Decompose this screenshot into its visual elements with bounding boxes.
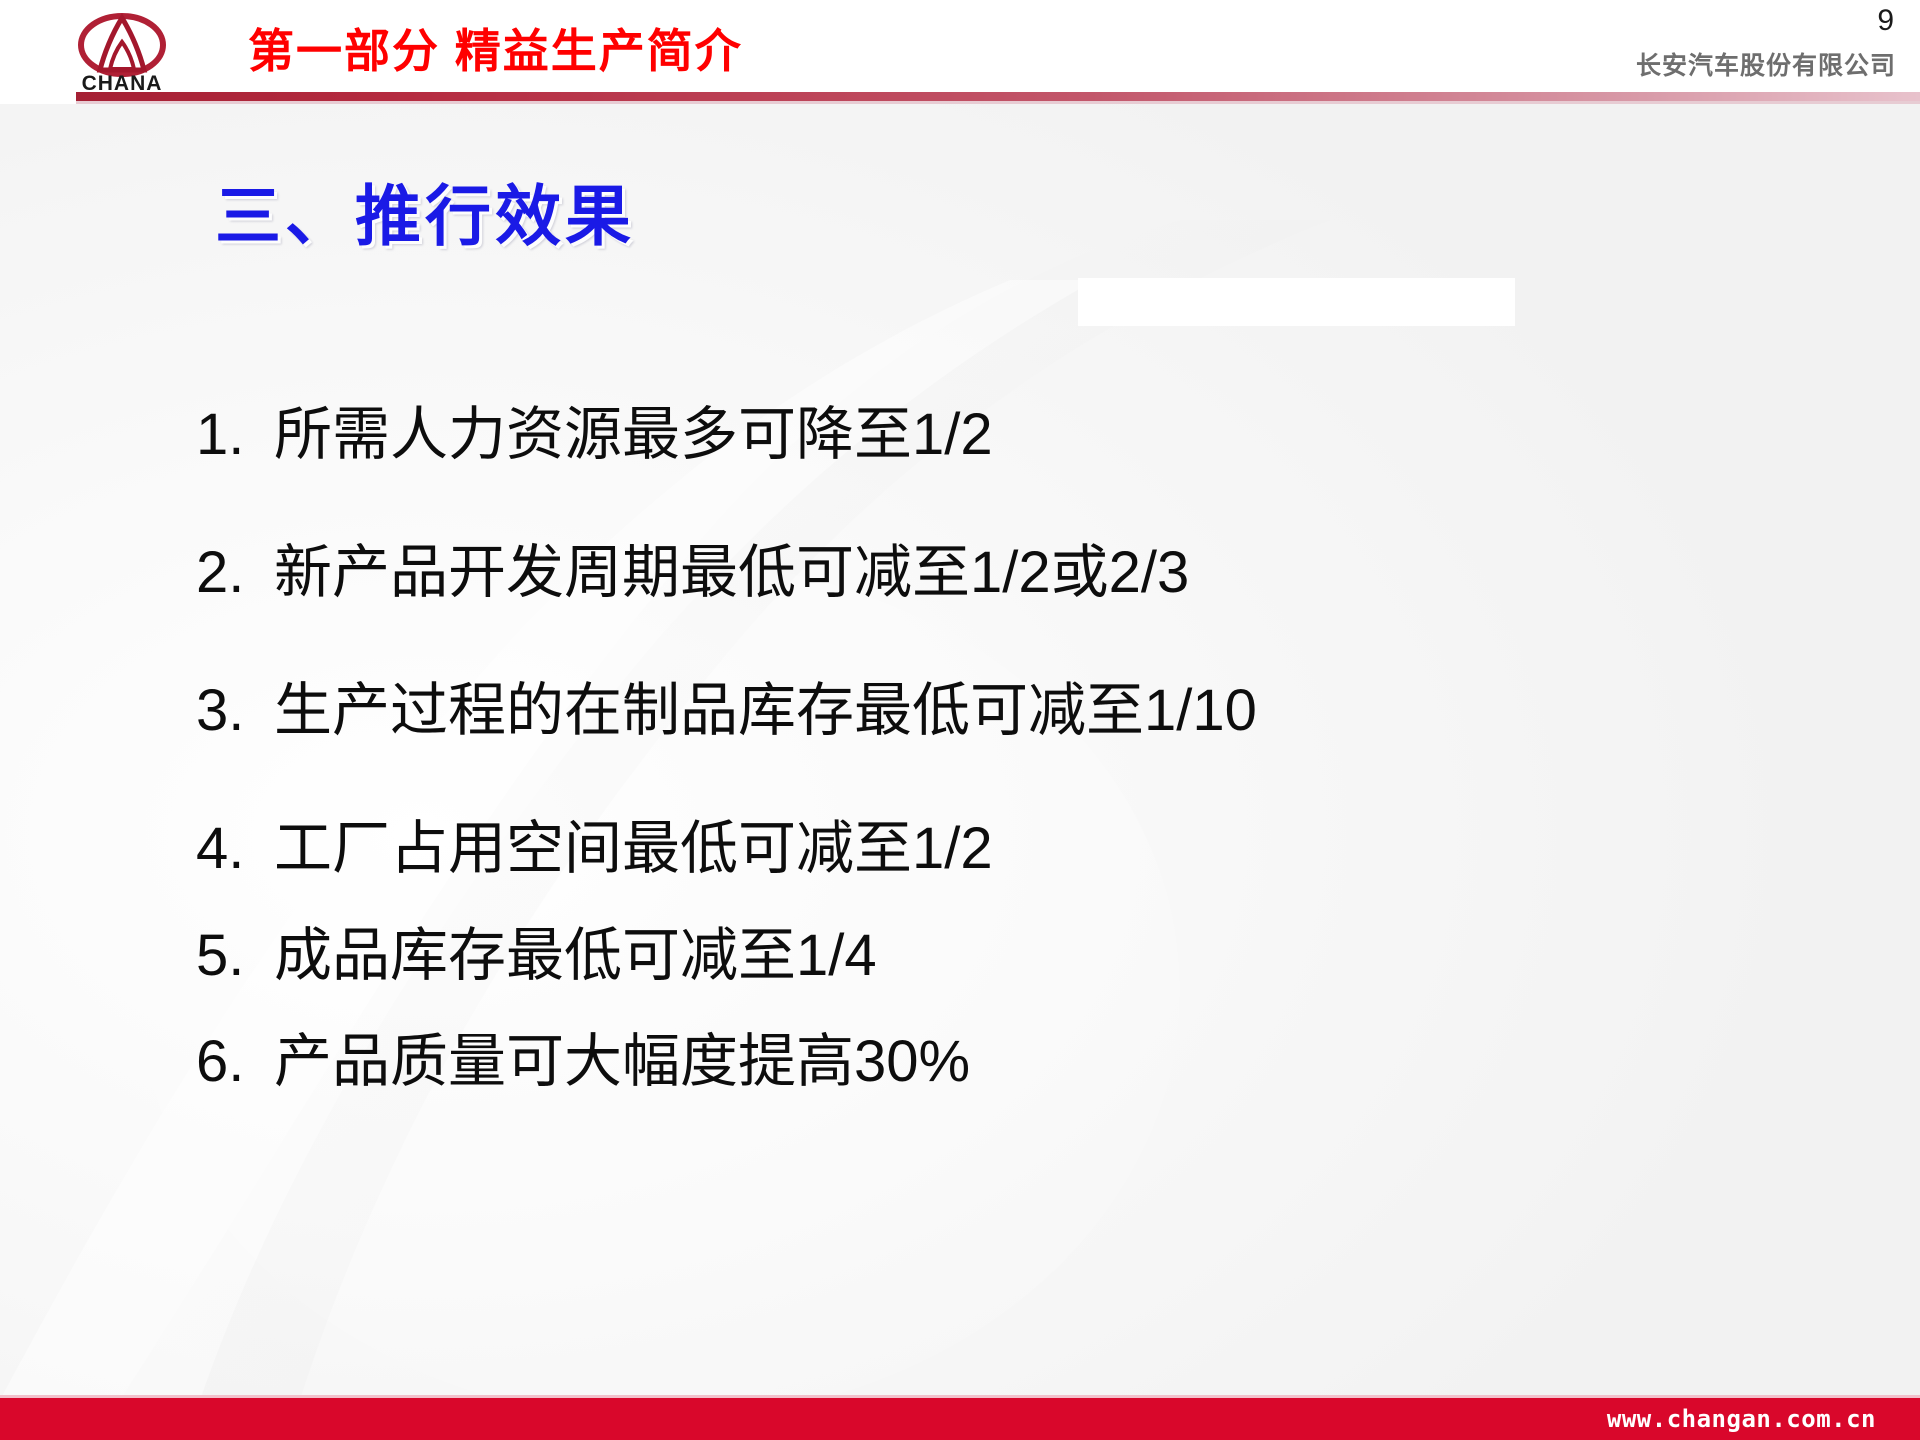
list-item-number: 1. <box>196 405 274 466</box>
list-item-text: 新产品开发周期最低可减至1/2或2/3 <box>274 543 1189 604</box>
list-item-number: 2. <box>196 543 274 604</box>
header-divider-rule-thin <box>76 101 1920 104</box>
list-item-text: 成品库存最低可减至1/4 <box>274 926 877 987</box>
list-item: 6. 产品质量可大幅度提高30% <box>196 1032 1696 1093</box>
effects-list: 1. 所需人力资源最多可降至1/2 2. 新产品开发周期最低可减至1/2或2/3… <box>196 405 1696 1093</box>
page-number: 9 <box>1877 4 1894 38</box>
header-divider-rule <box>76 92 1920 101</box>
list-item-text: 工厂占用空间最低可减至1/2 <box>274 819 993 880</box>
blank-placeholder-box <box>1078 278 1515 326</box>
list-item: 3. 生产过程的在制品库存最低可减至1/10 <box>196 681 1696 742</box>
header-title: 第一部分 精益生产简介 <box>248 26 743 77</box>
list-item-text: 所需人力资源最多可降至1/2 <box>274 405 993 466</box>
presentation-slide: CHANA 第一部分 精益生产简介 9 长安汽车股份有限公司 三、推行效果 1.… <box>0 0 1920 1440</box>
list-item: 2. 新产品开发周期最低可减至1/2或2/3 <box>196 543 1696 604</box>
list-item-number: 5. <box>196 926 274 987</box>
list-item-text: 生产过程的在制品库存最低可减至1/10 <box>274 681 1257 742</box>
list-item: 4. 工厂占用空间最低可减至1/2 <box>196 819 1696 880</box>
slide-header: CHANA 第一部分 精益生产简介 9 长安汽车股份有限公司 <box>0 0 1920 104</box>
list-item: 1. 所需人力资源最多可降至1/2 <box>196 405 1696 466</box>
list-item-number: 4. <box>196 819 274 880</box>
list-item-number: 3. <box>196 681 274 742</box>
chana-logo: CHANA <box>60 12 200 94</box>
list-item-number: 6. <box>196 1032 274 1093</box>
slide-footer: www.changan.com.cn <box>0 1398 1920 1440</box>
section-heading: 三、推行效果 <box>215 163 635 259</box>
footer-website-url: www.changan.com.cn <box>1607 1405 1876 1433</box>
list-item: 5. 成品库存最低可减至1/4 <box>196 926 1696 987</box>
company-name: 长安汽车股份有限公司 <box>1636 46 1896 82</box>
list-item-text: 产品质量可大幅度提高30% <box>274 1032 970 1093</box>
svg-text:CHANA: CHANA <box>82 72 163 94</box>
